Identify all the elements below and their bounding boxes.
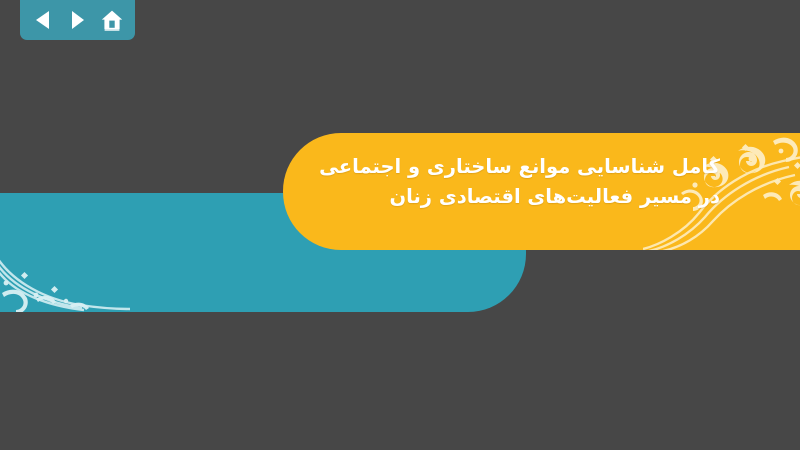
- triangle-left-icon: [34, 10, 52, 30]
- home-icon: [100, 8, 124, 32]
- next-slide-button[interactable]: [64, 7, 90, 33]
- slide-title-line-1: کامل شناسایی موانع ساختاری و اجتماعی: [300, 152, 720, 182]
- slide-navigation-bar: [20, 0, 135, 40]
- triangle-right-icon: [69, 10, 85, 30]
- arabesque-ornament-teal: [0, 193, 130, 312]
- slide-title-line-2: در مسیر فعالیت‌های اقتصادی زنان: [300, 182, 720, 212]
- previous-slide-button[interactable]: [30, 7, 56, 33]
- presentation-slide: کامل شناسایی موانع ساختاری و اجتماعی در …: [0, 0, 800, 450]
- slide-title: کامل شناسایی موانع ساختاری و اجتماعی در …: [300, 152, 720, 212]
- home-button[interactable]: [99, 7, 125, 33]
